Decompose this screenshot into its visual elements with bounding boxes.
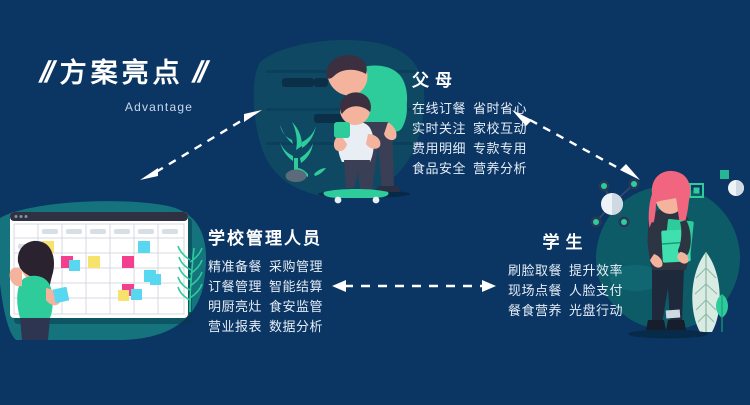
group-school-heading: 学校管理人员: [208, 224, 323, 249]
group-school-line-3: 明厨亮灶食安监管: [208, 297, 323, 317]
group-school-line-3-right: 食安监管: [269, 299, 323, 314]
title-row: // 方案亮点 //: [40, 58, 260, 88]
group-parent-heading: 父母: [412, 66, 527, 91]
group-school: 学校管理人员 精准备餐采购管理 订餐管理智能结算 明厨亮灶食安监管 营业报表数据…: [208, 224, 323, 337]
group-student-line-2-right: 人脸支付: [569, 283, 623, 298]
group-student-line-2: 现场点餐人脸支付: [508, 281, 623, 301]
group-student-line-2-left: 现场点餐: [508, 283, 562, 298]
group-student-line-1-left: 刷脸取餐: [508, 263, 562, 278]
group-school-line-2-right: 智能结算: [269, 279, 323, 294]
connector-school-student-arrow-icon: [330, 278, 498, 294]
group-school-line-4-left: 营业报表: [208, 319, 262, 334]
slash-right-icon: //: [192, 58, 205, 88]
illustration-school-calendar-board: [0, 200, 210, 340]
group-student-line-1-right: 提升效率: [569, 263, 623, 278]
group-school-line-1-left: 精准备餐: [208, 259, 262, 274]
connector-parent-school-arrow-icon: [138, 108, 264, 180]
group-student-line-3-left: 餐食营养: [508, 303, 562, 318]
group-parent-line-3-left: 费用明细: [412, 141, 466, 156]
group-student-line-3-right: 光盘行动: [569, 303, 623, 318]
group-school-line-1-right: 采购管理: [269, 259, 323, 274]
connector-parent-student-arrow-icon: [508, 108, 642, 184]
group-school-line-2: 订餐管理智能结算: [208, 277, 323, 297]
group-student-line-3: 餐食营养光盘行动: [508, 301, 623, 321]
group-parent-line-2-left: 实时关注: [412, 121, 466, 136]
slash-left-icon: //: [39, 58, 52, 88]
page-title: 方案亮点: [60, 60, 184, 87]
group-student-line-1: 刷脸取餐提升效率: [508, 261, 623, 281]
page-title-block: // 方案亮点 // Advantage: [40, 58, 260, 114]
group-school-line-1: 精准备餐采购管理: [208, 257, 323, 277]
group-school-line-4-right: 数据分析: [269, 319, 323, 334]
group-student-heading: 学生: [508, 228, 623, 253]
group-school-line-2-left: 订餐管理: [208, 279, 262, 294]
illustration-parent-and-child: [252, 22, 427, 207]
group-student: 学生 刷脸取餐提升效率 现场点餐人脸支付 餐食营养光盘行动: [508, 228, 623, 321]
group-parent-line-1-left: 在线订餐: [412, 101, 466, 116]
group-school-line-3-left: 明厨亮灶: [208, 299, 262, 314]
group-parent-line-4-left: 食品安全: [412, 161, 466, 176]
group-school-line-4: 营业报表数据分析: [208, 317, 323, 337]
infographic-canvas: // 方案亮点 // Advantage 父母 在线订餐省时省心 实时关注家校互…: [0, 0, 750, 405]
